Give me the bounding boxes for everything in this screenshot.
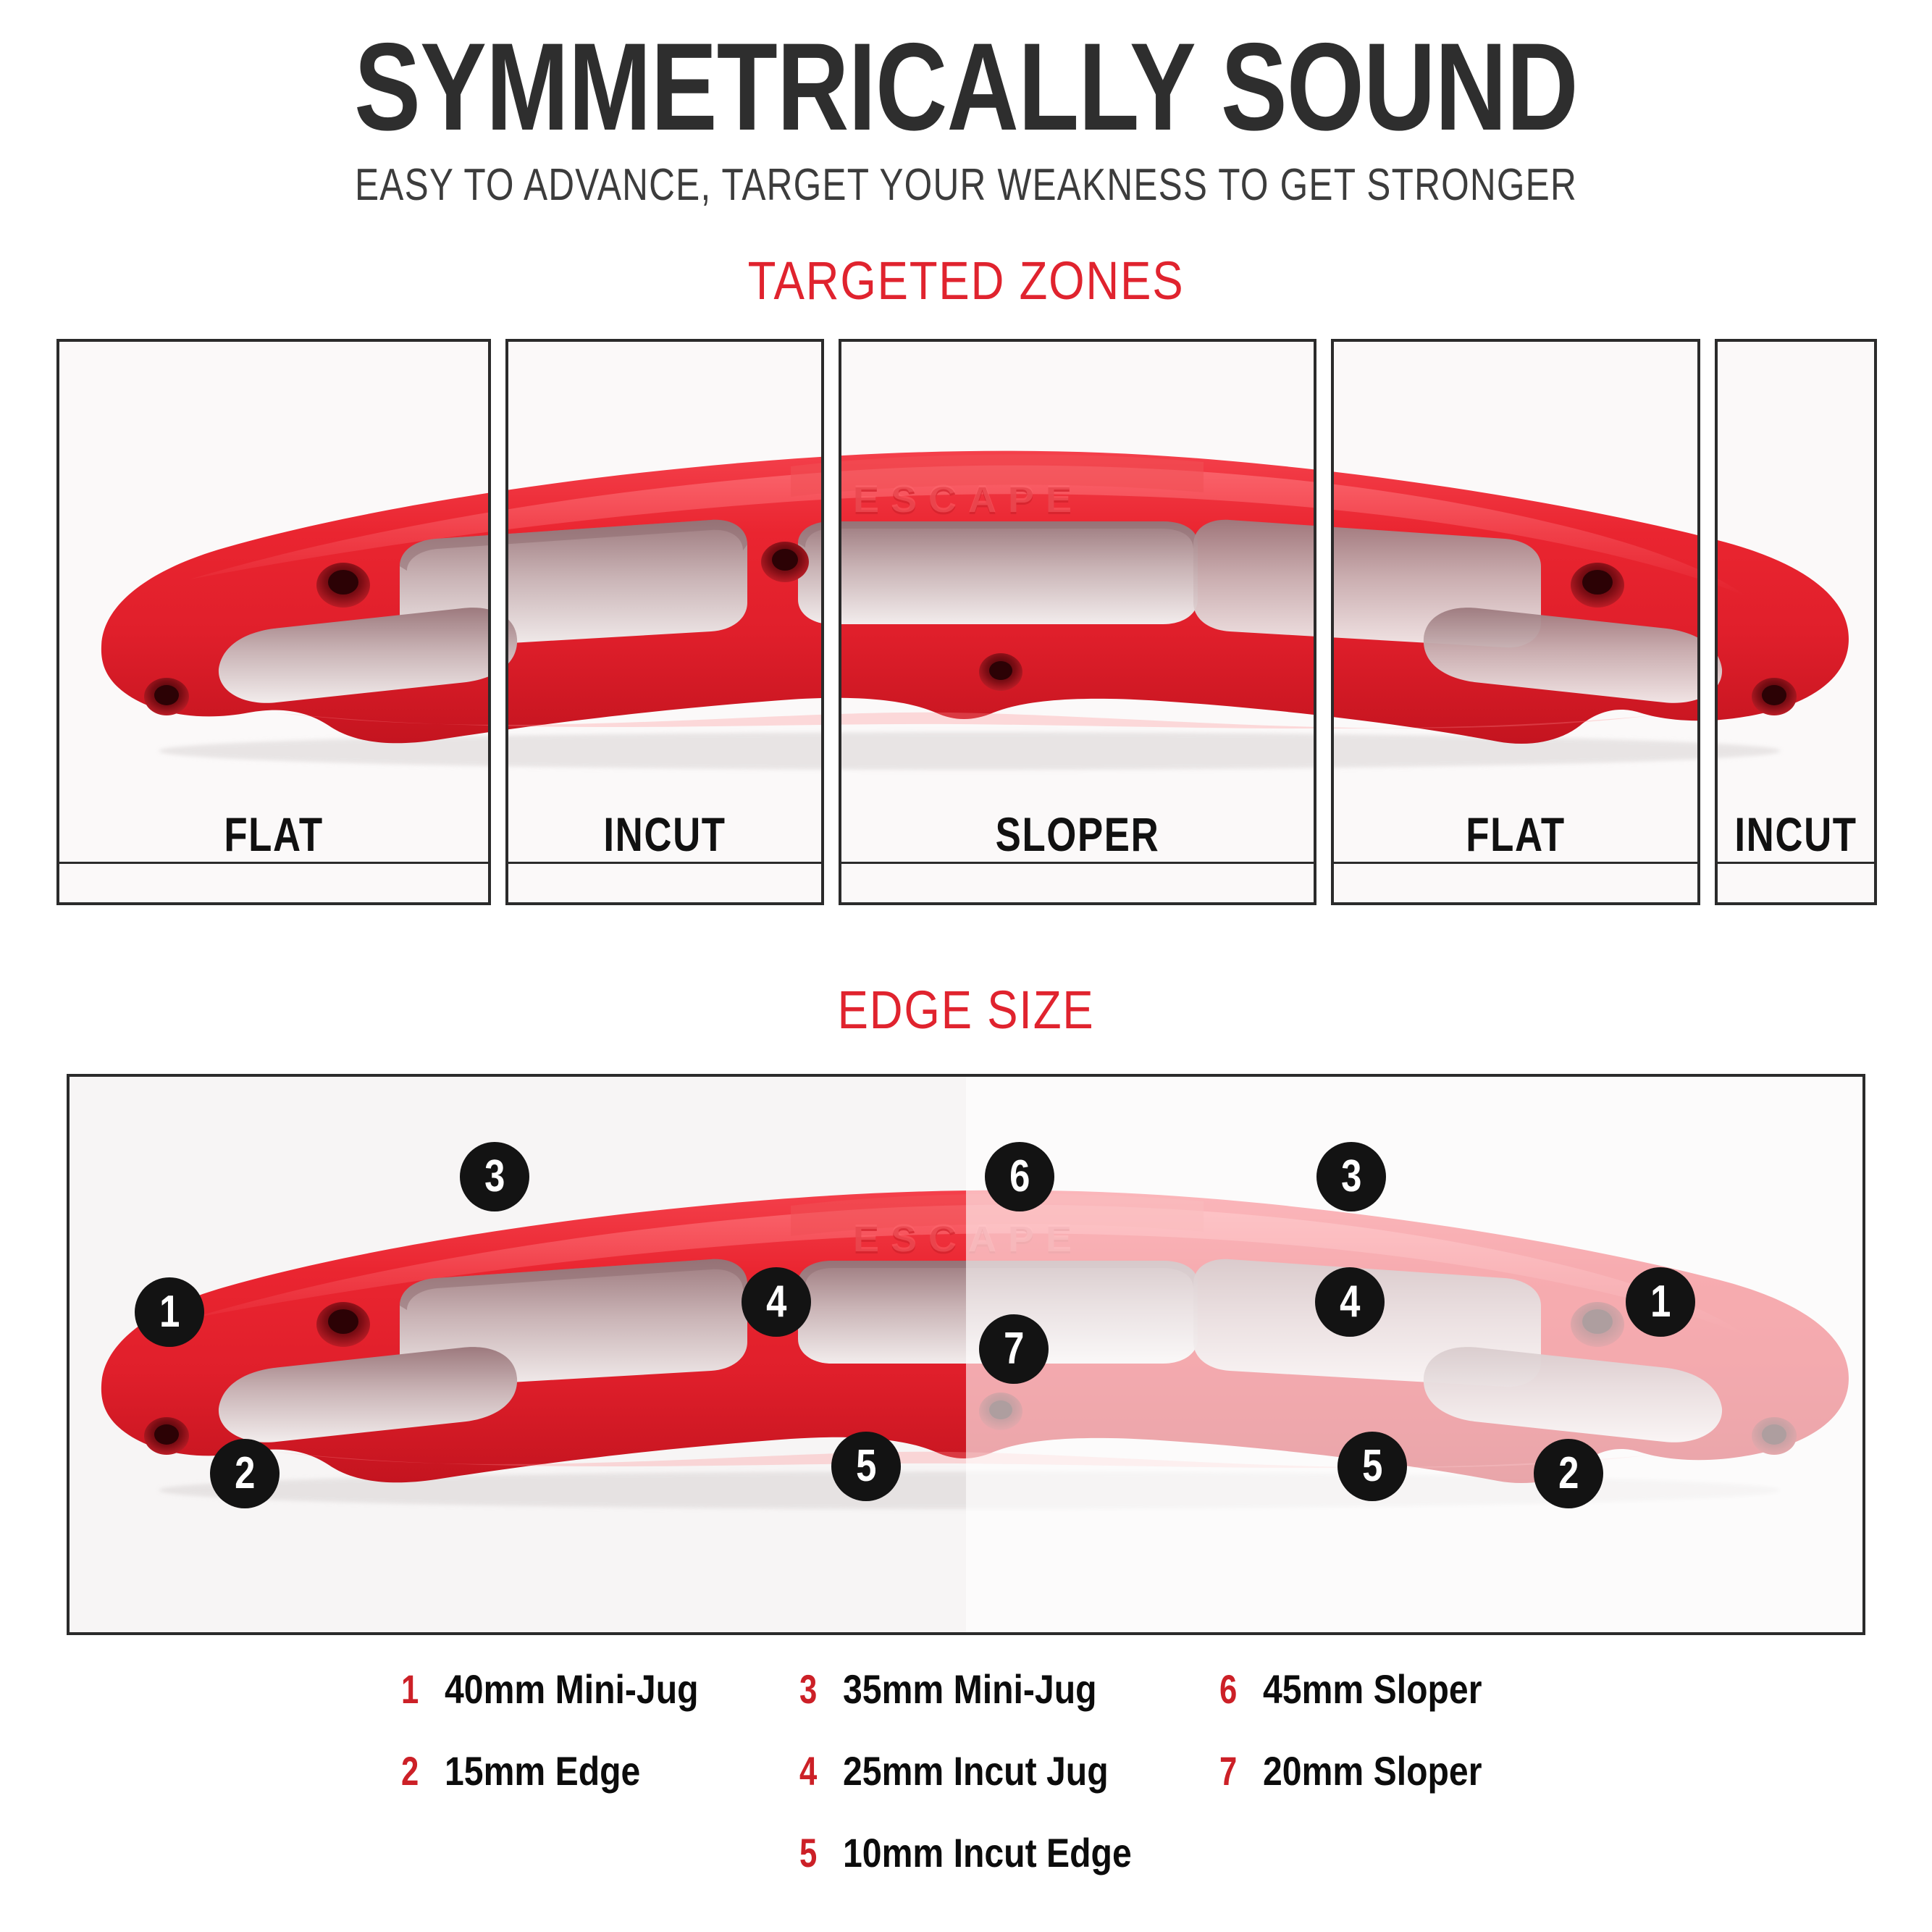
edge-badge-1[interactable]: 1 — [135, 1277, 204, 1347]
legend-label: 25mm Incut Jug — [843, 1747, 1109, 1794]
zone-label: SLOPER — [889, 807, 1267, 862]
legend-label: 15mm Edge — [445, 1747, 640, 1794]
page-header: SYMMETRICALLY SOUND EASY TO ADVANCE, TAR… — [0, 0, 1932, 311]
targeted-zones-heading: TARGETED ZONES — [135, 250, 1797, 311]
edge-badge-2[interactable]: 2 — [1534, 1439, 1603, 1508]
edge-badge-number: 5 — [1362, 1444, 1382, 1489]
legend-row: 645mm Sloper — [1219, 1666, 1531, 1713]
legend-label: 10mm Incut Edge — [843, 1829, 1132, 1876]
legend-label: 35mm Mini-Jug — [843, 1666, 1097, 1713]
edge-badge-7[interactable]: 7 — [979, 1314, 1049, 1384]
legend-column-2: 335mm Mini-Jug425mm Incut Jug510mm Incut… — [799, 1666, 1219, 1876]
edge-badge-number: 3 — [484, 1154, 505, 1199]
edge-badge-number: 4 — [1340, 1280, 1360, 1324]
zone-label: INCUT — [1734, 807, 1859, 862]
zone-box-sloper-3: ESCAPE ESCAPE SLOPER — [839, 339, 1316, 905]
legend-row: 335mm Mini-Jug — [799, 1666, 1219, 1713]
edge-badge-number: 4 — [766, 1280, 786, 1324]
legend-row: 140mm Mini-Jug — [401, 1666, 799, 1713]
zone-label-divider — [1718, 862, 1874, 864]
edge-badge-6[interactable]: 6 — [985, 1142, 1054, 1211]
edge-badge-5[interactable]: 5 — [1337, 1432, 1407, 1501]
zone-label-divider — [508, 862, 821, 864]
legend-column-3: 645mm Sloper720mm Sloper — [1219, 1666, 1531, 1876]
edge-badge-4[interactable]: 4 — [742, 1267, 811, 1337]
zone-label-divider — [1334, 862, 1697, 864]
edge-badge-number: 6 — [1009, 1154, 1030, 1199]
targeted-zones-section: ESCAPE ESCAPE FLAT — [56, 339, 1877, 905]
legend-number: 4 — [799, 1747, 819, 1794]
edge-badge-number: 5 — [856, 1444, 876, 1489]
legend-label: 45mm Sloper — [1263, 1666, 1482, 1713]
zone-label: FLAT — [102, 807, 445, 862]
zone-box-incut-2: ESCAPE ESCAPE INCUT — [505, 339, 824, 905]
edge-badge-number: 3 — [1341, 1154, 1361, 1199]
legend-label: 20mm Sloper — [1263, 1747, 1482, 1794]
zone-label: INCUT — [539, 807, 790, 862]
legend-number: 5 — [799, 1829, 819, 1876]
edge-badge-number: 2 — [235, 1451, 255, 1496]
legend-row: 510mm Incut Edge — [799, 1829, 1219, 1876]
edge-badge-2[interactable]: 2 — [210, 1439, 280, 1508]
zone-box-incut-5: ESCAPE ESCAPE INCUT — [1715, 339, 1877, 905]
edge-badge-5[interactable]: 5 — [831, 1432, 901, 1501]
zone-label-divider — [59, 862, 488, 864]
legend-number: 2 — [401, 1747, 421, 1794]
page-title: SYMMETRICALLY SOUND — [193, 28, 1739, 147]
svg-text:ESCAPE: ESCAPE — [853, 477, 1083, 521]
edge-badge-number: 1 — [1650, 1280, 1671, 1324]
edge-badge-number: 2 — [1558, 1451, 1579, 1496]
edge-size-heading: EDGE SIZE — [135, 979, 1797, 1041]
legend-row: 720mm Sloper — [1219, 1747, 1531, 1794]
legend-number: 6 — [1219, 1666, 1239, 1713]
edge-badge-4[interactable]: 4 — [1315, 1267, 1385, 1337]
zone-label-divider — [841, 862, 1314, 864]
edge-badge-3[interactable]: 3 — [1316, 1142, 1386, 1211]
legend-label: 40mm Mini-Jug — [445, 1666, 699, 1713]
svg-text:ESCAPE: ESCAPE — [853, 1217, 1083, 1260]
zone-label: FLAT — [1370, 807, 1661, 862]
legend-row: 215mm Edge — [401, 1747, 799, 1794]
legend-number: 3 — [799, 1666, 819, 1713]
edge-size-legend: 140mm Mini-Jug215mm Edge335mm Mini-Jug42… — [0, 1666, 1932, 1876]
legend-row: 425mm Incut Jug — [799, 1747, 1219, 1794]
legend-number: 1 — [401, 1666, 421, 1713]
zone-box-flat-1: ESCAPE ESCAPE FLAT — [56, 339, 491, 905]
hold-photo-edge-size: ESCAPE ESCAPE — [70, 1077, 1862, 1632]
edge-badge-number: 1 — [159, 1290, 180, 1335]
legend-number: 7 — [1219, 1747, 1239, 1794]
zone-box-flat-4: ESCAPE ESCAPE FLAT — [1331, 339, 1700, 905]
edge-badge-number: 7 — [1004, 1327, 1024, 1372]
legend-column-1: 140mm Mini-Jug215mm Edge — [401, 1666, 799, 1876]
edge-badge-3[interactable]: 3 — [460, 1142, 529, 1211]
page-subtitle: EASY TO ADVANCE, TARGET YOUR WEAKNESS TO… — [193, 163, 1739, 208]
edge-badge-1[interactable]: 1 — [1626, 1267, 1695, 1337]
edge-size-panel: ESCAPE ESCAPE — [67, 1074, 1865, 1635]
